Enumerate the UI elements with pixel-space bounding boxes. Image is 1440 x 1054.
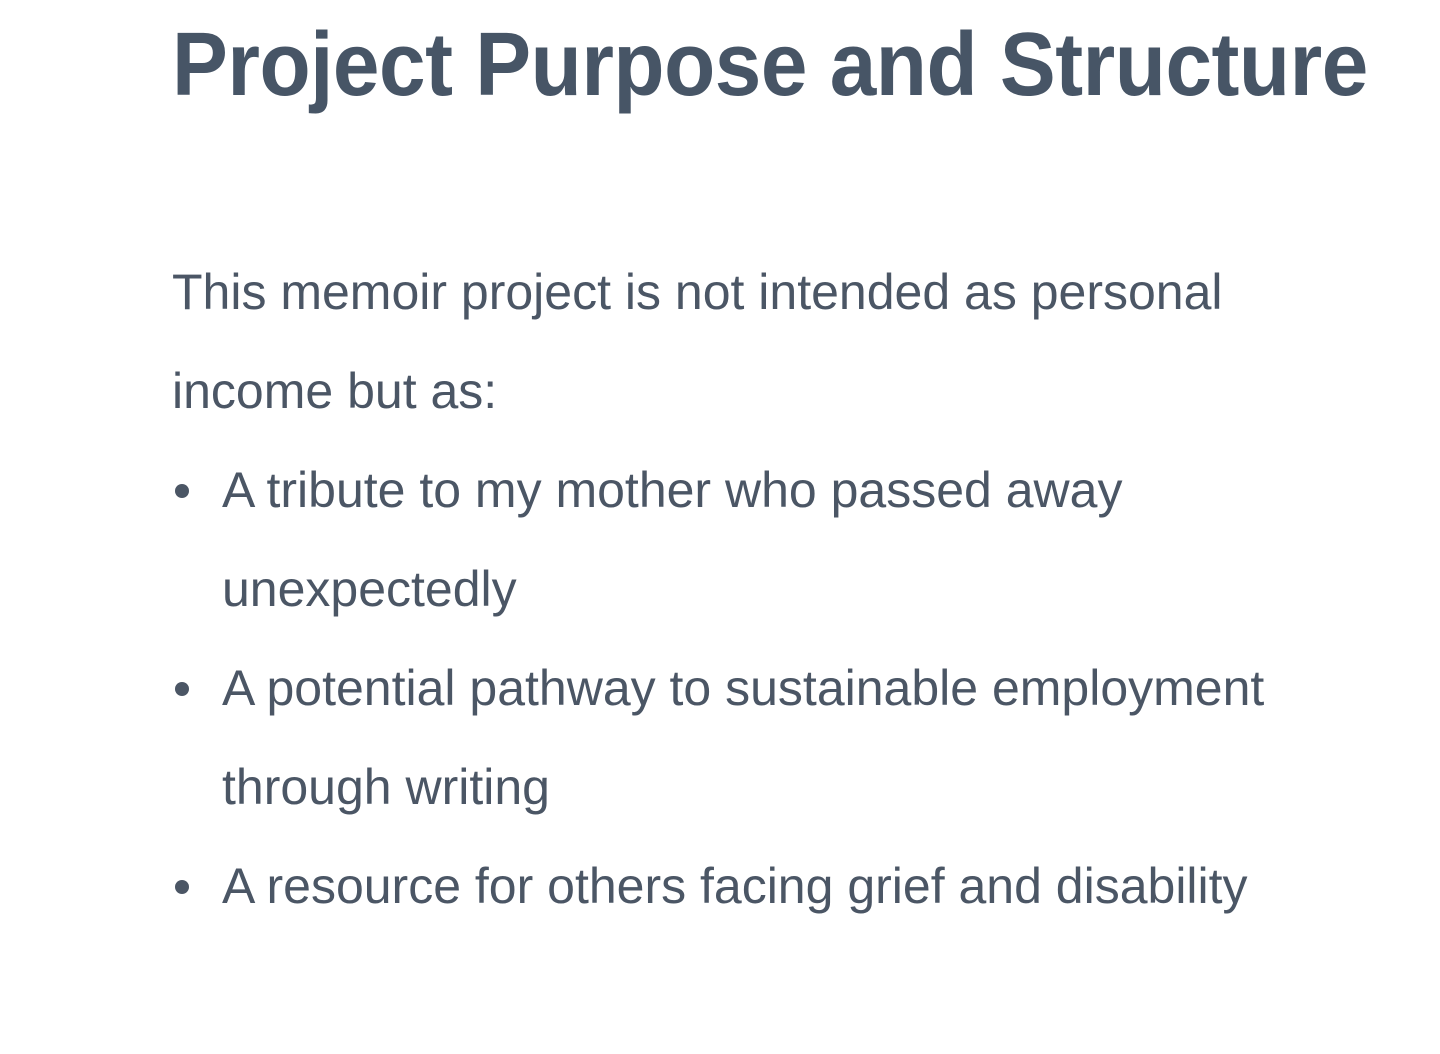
list-item: A tribute to my mother who passed away u… [172,441,1362,639]
purpose-list: A tribute to my mother who passed away u… [172,441,1362,936]
document-body: This memoir project is not intended as p… [172,243,1362,936]
list-item-label: A resource for others facing grief and d… [222,858,1248,914]
bullet-dot-icon [175,880,189,894]
intro-paragraph: This memoir project is not intended as p… [172,243,1262,441]
bullet-dot-icon [175,682,189,696]
list-item-label: A potential pathway to sustainable emplo… [222,660,1264,815]
list-item: A resource for others facing grief and d… [172,837,1362,936]
page-title: Project Purpose and Structure [172,20,1368,110]
list-item: A potential pathway to sustainable emplo… [172,639,1362,837]
list-item-label: A tribute to my mother who passed away u… [222,462,1122,617]
document-page: Project Purpose and Structure This memoi… [0,0,1440,1054]
bullet-dot-icon [175,484,189,498]
